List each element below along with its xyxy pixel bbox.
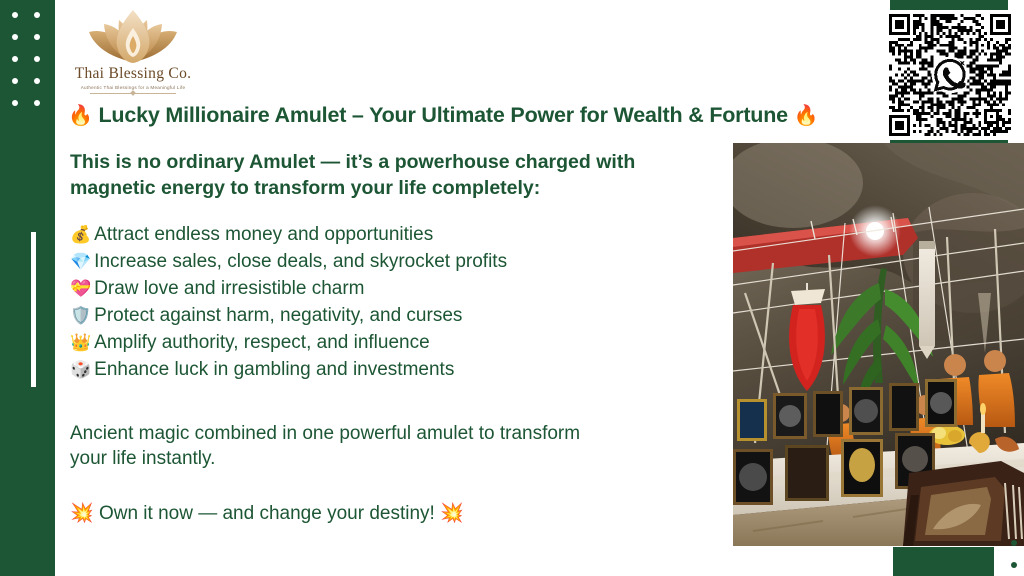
collision-icon-right: 💥 bbox=[440, 503, 464, 524]
decor-dot bbox=[34, 12, 40, 18]
benefit-text: Enhance luck in gambling and investments bbox=[94, 359, 454, 380]
list-item: 👑Amplify authority, respect, and influen… bbox=[70, 330, 730, 357]
decor-dot bbox=[12, 78, 18, 84]
benefit-text: Protect against harm, negativity, and cu… bbox=[94, 305, 462, 326]
closing-paragraph: Ancient magic combined in one powerful a… bbox=[70, 421, 730, 472]
brand-logo: Thai Blessing Co. Authentic Thai Blessin… bbox=[68, 6, 198, 98]
benefit-text: Increase sales, close deals, and skyrock… bbox=[94, 251, 507, 272]
fire-icon-right: 🔥 bbox=[794, 105, 819, 127]
dot-grid-decoration bbox=[0, 0, 55, 125]
decor-dot bbox=[12, 12, 18, 18]
shield-icon: 🛡️ bbox=[70, 306, 91, 325]
lotus-flame-icon bbox=[85, 6, 181, 64]
headline-text: Lucky Millionaire Amulet – Your Ultimate… bbox=[98, 103, 787, 127]
closing-line-1: Ancient magic combined in one powerful a… bbox=[70, 421, 730, 446]
subheading-line-2: magnetic energy to transform your life c… bbox=[70, 176, 730, 202]
call-to-action: 💥 Own it now — and change your destiny! … bbox=[70, 501, 730, 525]
benefit-text: Draw love and irresistible charm bbox=[94, 278, 364, 299]
decor-dot bbox=[34, 78, 40, 84]
decor-dot bbox=[34, 34, 40, 40]
logo-divider bbox=[90, 93, 176, 94]
list-item: 💝Draw love and irresistible charm bbox=[70, 276, 730, 303]
bottom-right-dots bbox=[1006, 540, 1024, 576]
decor-dot bbox=[1011, 540, 1017, 546]
benefit-text: Amplify authority, respect, and influenc… bbox=[94, 332, 430, 353]
game-die-icon: 🎲 bbox=[70, 360, 91, 379]
collision-icon-left: 💥 bbox=[70, 503, 94, 524]
cta-text: Own it now — and change your destiny! bbox=[99, 503, 435, 524]
benefits-list: 💰Attract endless money and opportunities… bbox=[70, 222, 730, 384]
list-item: 🛡️Protect against harm, negativity, and … bbox=[70, 303, 730, 330]
list-item: 🎲Enhance luck in gambling and investment… bbox=[70, 357, 730, 384]
list-item: 💰Attract endless money and opportunities bbox=[70, 222, 730, 249]
benefit-text: Attract endless money and opportunities bbox=[94, 224, 433, 245]
fire-icon-left: 🔥 bbox=[68, 105, 93, 127]
qr-code-graphic bbox=[888, 14, 1012, 136]
heart-with-ribbon-icon: 💝 bbox=[70, 279, 91, 298]
page-title: 🔥 Lucky Millionaire Amulet – Your Ultima… bbox=[68, 103, 886, 128]
subheading: This is no ordinary Amulet — it’s a powe… bbox=[70, 150, 730, 201]
decor-dot bbox=[34, 100, 40, 106]
white-accent-bar bbox=[31, 232, 36, 387]
decor-dot bbox=[12, 34, 18, 40]
decor-dot bbox=[1011, 562, 1017, 568]
decor-dot bbox=[34, 56, 40, 62]
left-decorative-band bbox=[0, 0, 55, 576]
subheading-line-1: This is no ordinary Amulet — it’s a powe… bbox=[70, 150, 730, 176]
ceremony-illustration bbox=[733, 143, 1024, 546]
closing-line-2: your life instantly. bbox=[70, 446, 730, 471]
money-bag-icon: 💰 bbox=[70, 225, 91, 244]
decor-dot bbox=[12, 56, 18, 62]
whatsapp-qr-code[interactable] bbox=[884, 10, 1016, 140]
decor-dot bbox=[12, 100, 18, 106]
amulet-blessing-ceremony-photo bbox=[733, 143, 1024, 546]
bottom-right-green-block bbox=[893, 547, 994, 576]
logo-company-name: Thai Blessing Co. bbox=[68, 65, 198, 83]
gem-stone-icon: 💎 bbox=[70, 252, 91, 271]
crown-icon: 👑 bbox=[70, 333, 91, 352]
list-item: 💎Increase sales, close deals, and skyroc… bbox=[70, 249, 730, 276]
